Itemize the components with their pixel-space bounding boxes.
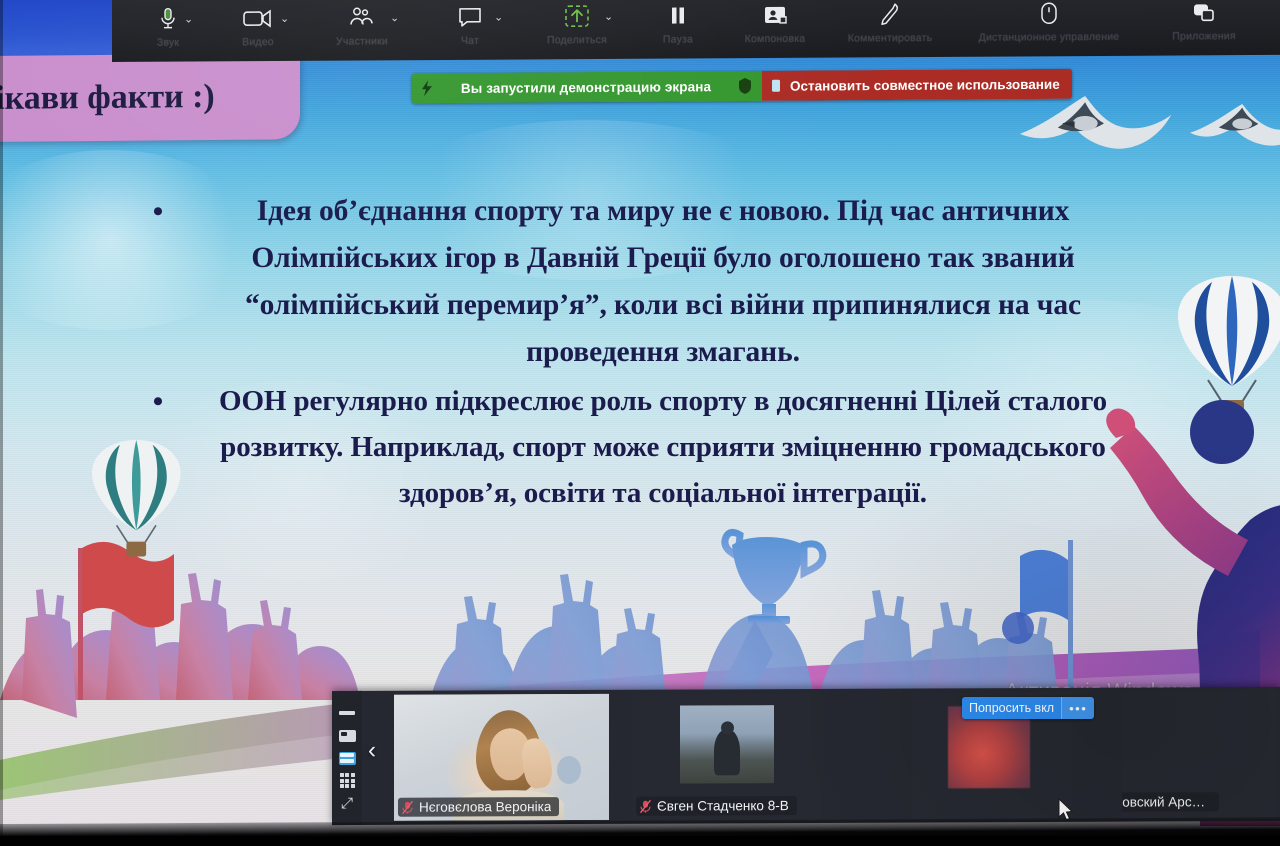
shield-icon[interactable] — [738, 78, 752, 94]
crowd-silhouette-left — [0, 573, 360, 718]
trophy-cup-icon — [709, 532, 823, 712]
stop-share-label: Остановить совместное использование — [790, 76, 1060, 93]
toolbar-annotate-label: Комментировать — [848, 32, 933, 45]
muted-microphone-icon — [640, 799, 651, 813]
participant-name: Євген Стадченко 8-В — [657, 798, 789, 814]
chevron-down-icon[interactable]: ⌄ — [494, 11, 503, 24]
toolbar-apps-label: Приложения — [1172, 30, 1235, 42]
hot-air-balloon-icon — [1178, 276, 1280, 418]
participant-tile[interactable]: Козловский Арсений — [1122, 691, 1277, 818]
toolbar-audio-label: Звук — [157, 37, 179, 49]
participant-name: Козловский Арсений — [1122, 794, 1211, 810]
participants-filmstrip: ⤢ ‹ Нєговєлова Вероніка — [332, 687, 1280, 825]
slide-bullet-1-text: Ідея об’єднання спорту та миру не є ново… — [176, 188, 1150, 376]
toolbar-video-button[interactable]: Видео ⌄ — [210, 0, 306, 48]
muted-microphone-icon — [402, 800, 413, 814]
chevron-down-icon[interactable]: ⌄ — [390, 11, 399, 24]
fullscreen-button[interactable]: ⤢ — [339, 796, 356, 809]
layout-controls: ⤢ — [332, 691, 362, 825]
gallery-view-button[interactable] — [339, 774, 356, 787]
toolbar-layout-label: Компоновка — [745, 33, 806, 45]
toolbar-share-label: Поделиться — [547, 34, 607, 46]
more-options-button[interactable]: ••• — [1061, 697, 1094, 719]
toolbar-audio-button[interactable]: Звук ⌄ — [126, 0, 210, 49]
chevron-down-icon[interactable]: ⌄ — [184, 13, 193, 26]
toolbar-participants-label: Участники — [336, 35, 388, 47]
participant-name-tag: Євген Стадченко 8-В — [636, 796, 797, 816]
toolbar-participants-button[interactable]: Участники ⌄ — [306, 0, 418, 48]
pause-icon — [669, 2, 687, 28]
share-status-bar: Вы запустили демонстрацию экрана Останов… — [412, 69, 1072, 104]
toolbar-remote-control-button[interactable]: Дистанционное управление — [954, 0, 1144, 44]
minimize-layout-button[interactable] — [339, 706, 356, 719]
stop-share-icon — [770, 79, 782, 93]
toolbar-remote-control-label: Дистанционное управление — [979, 31, 1120, 44]
chevron-down-icon[interactable]: ⌄ — [604, 10, 613, 23]
ask-to-unmute-pill: Попросить вкл ••• — [962, 697, 1094, 719]
slide-bullet-2-text: ООН регулярно підкреслює роль спорту в д… — [176, 378, 1150, 516]
participant-tile[interactable]: Нєговєлова Вероніка — [394, 694, 609, 821]
toolbar-chat-label: Чат — [461, 35, 479, 47]
share-status-text: Вы запустили демонстрацию экрана — [444, 79, 728, 96]
slide-body: • Ідея об’єднання спорту та миру не є но… — [140, 188, 1150, 516]
bullet-dot-icon: • — [140, 188, 176, 236]
seagull-icon — [1020, 96, 1171, 149]
slide-bullet-1: • Ідея об’єднання спорту та миру не є но… — [140, 188, 1150, 376]
toolbar-layout-button[interactable]: Компоновка — [724, 0, 826, 45]
meeting-toolbar: Звук ⌄ Видео ⌄ Участники ⌄ — [112, 0, 1280, 62]
microphone-icon — [160, 6, 176, 32]
previous-page-button[interactable]: ‹ — [368, 737, 376, 765]
participant-name-tag: Козловский Арсений — [1122, 792, 1219, 812]
strip-view-button[interactable] — [339, 751, 356, 764]
chat-bubble-icon — [458, 4, 482, 30]
ball-icon — [1002, 612, 1034, 644]
participant-name: Нєговєлова Вероніка — [419, 799, 551, 815]
speaker-view-button[interactable] — [339, 729, 356, 742]
screen-share-active-icon — [420, 80, 434, 96]
ask-to-unmute-button[interactable]: Попросить вкл — [962, 701, 1061, 715]
toolbar-pause-label: Пауза — [663, 33, 693, 45]
toolbar-share-button[interactable]: Поделиться ⌄ — [522, 0, 632, 46]
apps-windows-icon — [1192, 0, 1216, 25]
screen-root: ікави факти :) • Ідея об’єднання спорту … — [0, 0, 1280, 846]
slide-top-strip — [0, 0, 112, 58]
toolbar-chat-button[interactable]: Чат ⌄ — [418, 0, 522, 47]
slide-bullet-2: • ООН регулярно підкреслює роль спорту в… — [140, 378, 1150, 516]
participant-tile[interactable]: Євген Стадченко 8-В — [632, 693, 822, 820]
pen-icon — [879, 1, 901, 27]
camera-icon — [243, 5, 273, 31]
stop-share-button[interactable]: Остановить совместное использование — [762, 69, 1072, 101]
toolbar-pause-button[interactable]: Пауза — [632, 0, 724, 46]
chevron-down-icon[interactable]: ⌄ — [280, 12, 289, 25]
layout-icon — [763, 2, 787, 28]
remote-control-icon — [1040, 0, 1058, 26]
toolbar-video-label: Видео — [242, 36, 274, 48]
toolbar-apps-button[interactable]: Приложения — [1144, 0, 1264, 43]
participants-icon — [348, 4, 376, 30]
blue-flag-icon — [1020, 540, 1073, 700]
crowd-silhouette-middle — [430, 574, 1058, 700]
share-screen-icon — [564, 3, 590, 29]
bullet-dot-icon: • — [140, 378, 176, 426]
slide-title-box: ікави факти :) — [0, 53, 300, 143]
slide-title: ікави факти :) — [0, 78, 215, 118]
share-status-green: Вы запустили демонстрацию экрана — [412, 71, 762, 103]
participant-name-tag: Нєговєлова Вероніка — [398, 797, 559, 817]
toolbar-annotate-button[interactable]: Комментировать — [826, 0, 954, 45]
red-flag-icon — [78, 542, 174, 700]
seagull-icon — [1190, 104, 1280, 146]
